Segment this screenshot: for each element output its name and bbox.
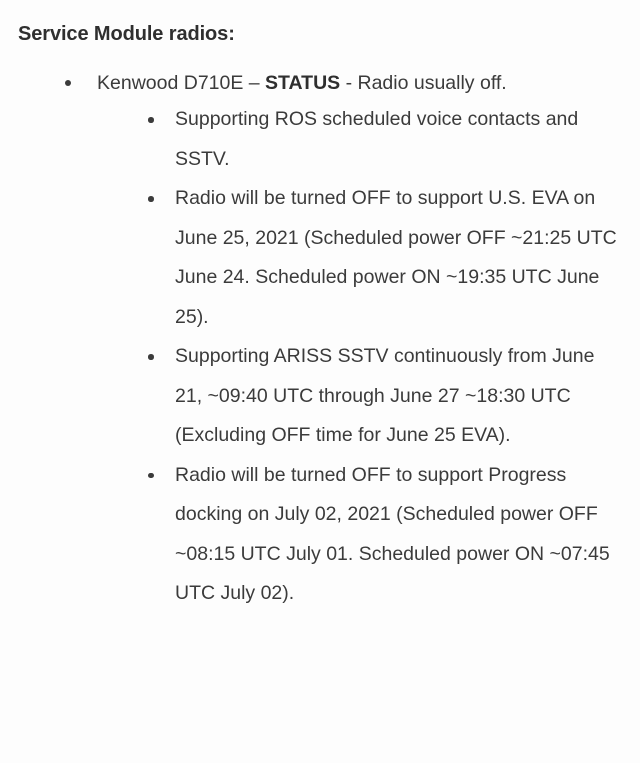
radio-model-label: Kenwood D710E – <box>97 72 265 94</box>
detail-text: Radio will be turned OFF to support U.S.… <box>175 179 626 337</box>
bullet-marker-icon <box>148 117 154 123</box>
radio-status-note: - Radio usually off. <box>340 72 507 94</box>
list-item: Supporting ROS scheduled voice contacts … <box>97 100 632 179</box>
detail-text: Supporting ARISS SSTV continuously from … <box>175 337 626 456</box>
bullet-marker-icon <box>148 473 154 479</box>
list-item: Radio will be turned OFF to support U.S.… <box>97 179 632 337</box>
list-item: Kenwood D710E – STATUS - Radio usually o… <box>0 66 640 614</box>
document-page: Service Module radios: Kenwood D710E – S… <box>0 0 640 763</box>
status-badge: STATUS <box>265 72 340 94</box>
bullet-marker-icon <box>65 80 71 86</box>
list-item: Radio will be turned OFF to support Prog… <box>97 456 632 614</box>
detail-text: Radio will be turned OFF to support Prog… <box>175 456 626 614</box>
bullet-marker-icon <box>148 354 154 360</box>
detail-text: Supporting ROS scheduled voice contacts … <box>175 100 626 179</box>
list-item: Supporting ARISS SSTV continuously from … <box>97 337 632 456</box>
page-title: Service Module radios: <box>18 20 235 48</box>
bullet-marker-icon <box>148 196 154 202</box>
radio-status-list: Kenwood D710E – STATUS - Radio usually o… <box>0 66 640 620</box>
radio-detail-list: Supporting ROS scheduled voice contacts … <box>97 100 632 614</box>
